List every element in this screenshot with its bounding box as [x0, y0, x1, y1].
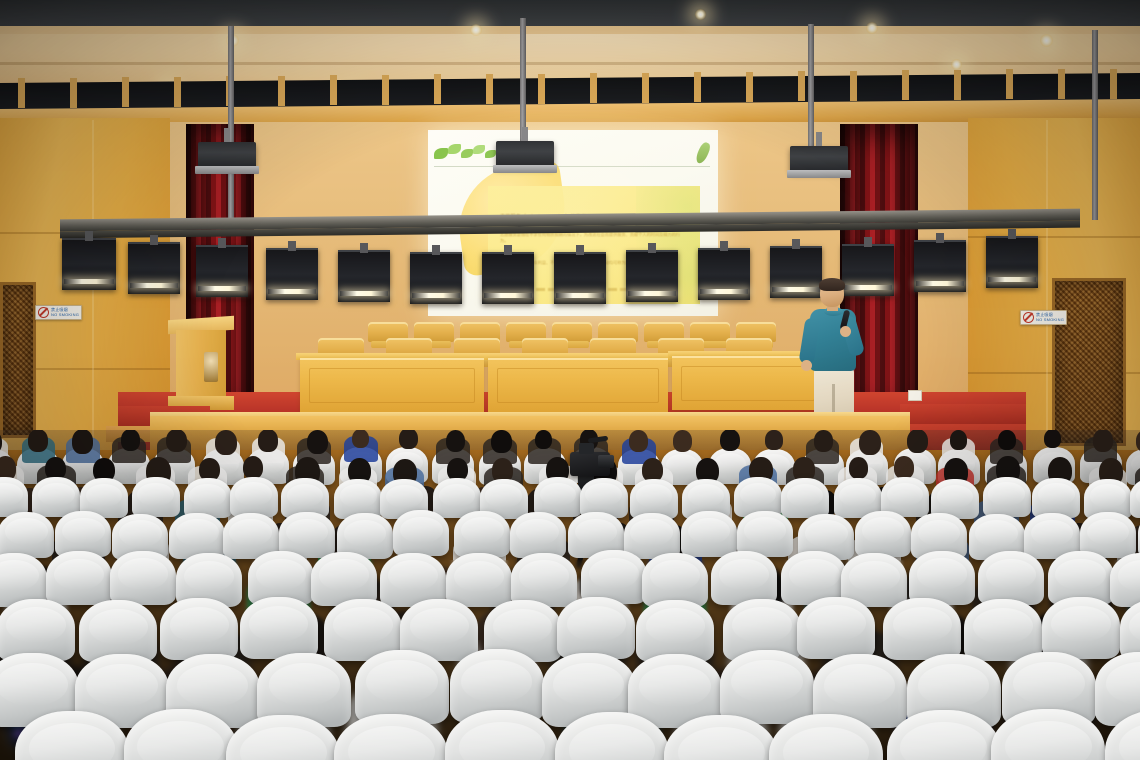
stage-light-yoke: [720, 241, 728, 251]
stage-light-fixture: [482, 252, 534, 304]
stage-light-lens: [628, 291, 676, 297]
projector-foot: [787, 170, 852, 178]
no-smoking-icon: [38, 307, 49, 318]
acoustic-panel-right: [1052, 278, 1126, 446]
no-smoking-sublabel: NO SMOKING: [1036, 317, 1064, 322]
audience-head: [998, 430, 1016, 450]
audience-head: [121, 430, 140, 451]
audience-seat: [79, 600, 157, 662]
podium: [176, 330, 226, 402]
stage-light-yoke: [936, 233, 944, 243]
stage-light-yoke: [288, 241, 296, 251]
proscenium-slat: [850, 71, 857, 101]
proscenium-slat: [694, 72, 701, 102]
proscenium-slat: [746, 72, 753, 102]
audience-seat: [510, 512, 566, 558]
audience-area: [0, 430, 1140, 760]
stage-light-fixture: [986, 236, 1038, 288]
audience-seat: [160, 598, 238, 660]
slide-hairline: [434, 166, 710, 167]
audience-head: [1093, 430, 1113, 452]
proscenium-slat: [642, 73, 649, 103]
audience-seat: [983, 477, 1031, 517]
audience-seat: [240, 597, 318, 659]
speaker-hair: [819, 278, 845, 291]
audience-head: [1136, 430, 1140, 452]
audience-head: [1044, 430, 1061, 448]
proscenium-slat: [538, 74, 545, 104]
audience-seat: [855, 511, 911, 557]
audience-seat: [511, 553, 577, 607]
stage-light-lens: [340, 291, 388, 297]
no-smoking-sign-right: 禁止吸烟 NO SMOKING: [1020, 310, 1067, 325]
proscenium-slat: [174, 77, 181, 107]
stage-light-lens: [412, 293, 460, 299]
ceiling-band: [0, 62, 1140, 65]
head-table-segment: [488, 358, 668, 412]
audience-seat: [642, 553, 708, 607]
audience-seat: [978, 551, 1044, 605]
audience-seat: [737, 511, 793, 557]
projector-foot: [195, 166, 260, 174]
projector-right: [790, 146, 848, 172]
audience-seat: [393, 510, 449, 556]
stage-light-yoke: [504, 245, 512, 255]
stage-light-yoke: [360, 243, 368, 253]
audience-head: [352, 430, 369, 448]
audience-seat: [781, 478, 829, 518]
camera-viewfinder: [579, 443, 594, 454]
audience-head: [814, 430, 833, 452]
audience-seat: [355, 650, 449, 724]
proscenium-slat: [278, 76, 285, 106]
audience-head: [849, 457, 868, 479]
audience-head: [535, 430, 552, 449]
audience-seat: [883, 598, 961, 660]
projector-stem: [522, 127, 529, 141]
audience-seat: [581, 550, 647, 604]
audience-seat: [964, 599, 1042, 661]
audience-seat: [1032, 478, 1080, 518]
audience-head: [307, 430, 328, 454]
audience-seat: [909, 551, 975, 605]
audience-seat: [446, 553, 512, 607]
proscenium-slat: [798, 71, 805, 101]
audience-head: [894, 456, 914, 479]
stage-light-fixture: [128, 242, 180, 294]
leaf-icon: [473, 145, 485, 154]
proscenium-slat: [1110, 69, 1117, 99]
stage-light-yoke: [1008, 229, 1016, 239]
stage-light-fixture: [196, 245, 248, 297]
stage-light-lens: [198, 286, 246, 292]
no-smoking-icon: [1023, 312, 1034, 323]
proscenium-slat: [1006, 69, 1013, 99]
audience-head: [28, 430, 48, 452]
audience-seat: [0, 512, 54, 558]
audience-seat: [624, 513, 680, 559]
projector-foot: [493, 165, 558, 173]
stage-light-fixture: [698, 248, 750, 300]
downlight: [951, 59, 962, 70]
no-smoking-sublabel: NO SMOKING: [51, 312, 79, 317]
leaf-icon: [434, 148, 448, 159]
audience-head: [629, 430, 648, 452]
speaker-hand-right: [840, 326, 851, 337]
leaf-icon: [448, 144, 461, 154]
stage-light-fixture: [410, 252, 462, 304]
hang-pole: [228, 26, 234, 222]
stage-light-lens: [130, 283, 178, 289]
audience-head: [491, 430, 511, 453]
audience-seat: [557, 597, 635, 659]
hang-pole: [1092, 30, 1098, 220]
projector-left: [198, 142, 256, 168]
stage-light-yoke: [150, 235, 158, 245]
audience-seat: [0, 599, 75, 661]
leaf-icon: [485, 150, 496, 158]
proscenium-slat: [18, 78, 25, 108]
audience-head: [258, 430, 278, 452]
stage-light-lens: [700, 289, 748, 295]
proscenium-slat: [70, 78, 77, 108]
wall-panel-edge: [1046, 120, 1048, 448]
projector-stem: [224, 128, 231, 142]
stage-light-fixture: [62, 238, 116, 290]
audience-seat: [169, 513, 225, 559]
audience-seat: [230, 477, 278, 517]
audience-seat: [46, 551, 112, 605]
stage-light-lens: [988, 277, 1036, 283]
downlight: [695, 9, 706, 20]
slide-paragraph-1: 志愿服务是指在不求任何物质报酬的情况下，为改进社会而提供服务、贡献个人的时间及精…: [500, 232, 686, 243]
stage-light-lens: [64, 279, 114, 285]
downlight: [470, 24, 482, 36]
stage-light-fixture: [554, 252, 606, 304]
stage-light-lens: [556, 293, 604, 299]
audience-head: [399, 430, 418, 449]
audience-seat: [636, 600, 714, 662]
audience-head: [950, 430, 967, 450]
speaker-hand-left: [801, 360, 812, 371]
camera-lens: [598, 455, 614, 468]
stage-light-fixture: [338, 250, 390, 302]
audience-seat: [681, 511, 737, 557]
audience-seat: [1110, 553, 1140, 607]
acoustic-panel-left: [0, 282, 36, 438]
audience-head: [859, 430, 881, 455]
podium-emblem: [204, 352, 218, 382]
stage-light-yoke: [648, 243, 656, 253]
stage-light-yoke: [792, 239, 800, 249]
no-smoking-sign-left: 禁止吸烟 NO SMOKING: [35, 305, 82, 320]
downlight: [1040, 34, 1053, 47]
downlight: [866, 22, 878, 34]
stage-step-right-upper: [900, 404, 1026, 424]
audience-head: [215, 430, 237, 455]
audience-head: [446, 430, 465, 452]
proscenium-slat: [1058, 69, 1065, 99]
proscenium-slat: [434, 74, 441, 104]
pen-icon: [694, 141, 712, 165]
audience-seat: [1042, 597, 1120, 659]
hang-pole: [808, 24, 814, 160]
stage-light-fixture: [626, 250, 678, 302]
audience-head: [673, 430, 692, 452]
proscenium-slat: [590, 73, 597, 103]
audience-head: [243, 456, 264, 479]
stage-light-yoke: [864, 237, 872, 247]
proscenium-slat: [954, 70, 961, 100]
stage-light-fixture: [914, 240, 966, 292]
proscenium-slat: [382, 75, 389, 105]
stage-light-fixture: [266, 248, 318, 300]
proscenium-slat: [122, 77, 129, 107]
audience-head: [720, 430, 740, 451]
proscenium-slat: [486, 74, 493, 104]
stage-light-lens: [268, 289, 316, 295]
stage-light-lens: [916, 281, 964, 287]
leaf-icon: [461, 149, 473, 158]
audience-head: [72, 430, 93, 454]
projector-center: [496, 141, 554, 167]
proscenium-slat: [902, 70, 909, 100]
audience-head: [907, 430, 928, 453]
stage-light-yoke: [432, 245, 440, 255]
stage-light-lens: [484, 293, 532, 299]
audience-seat: [132, 477, 180, 517]
stage-light-yoke: [576, 245, 584, 255]
audience-seat: [454, 511, 510, 557]
audience-head: [166, 430, 187, 452]
audience-head: [765, 430, 782, 450]
audience-seat: [110, 551, 176, 605]
head-table-segment: [300, 358, 484, 412]
audience-seat: [797, 597, 875, 659]
audience-seat: [720, 650, 814, 724]
audience-seat: [711, 551, 777, 605]
stage-light-yoke: [218, 238, 226, 248]
stage-light-yoke: [85, 231, 94, 241]
projector-stem: [816, 132, 823, 146]
auditorium-photo: 禁止吸烟 NO SMOKING 禁止吸烟 NO SMOKING 志愿服务（vol…: [0, 0, 1140, 760]
audience-seat: [311, 552, 377, 606]
proscenium-slat: [330, 75, 337, 105]
